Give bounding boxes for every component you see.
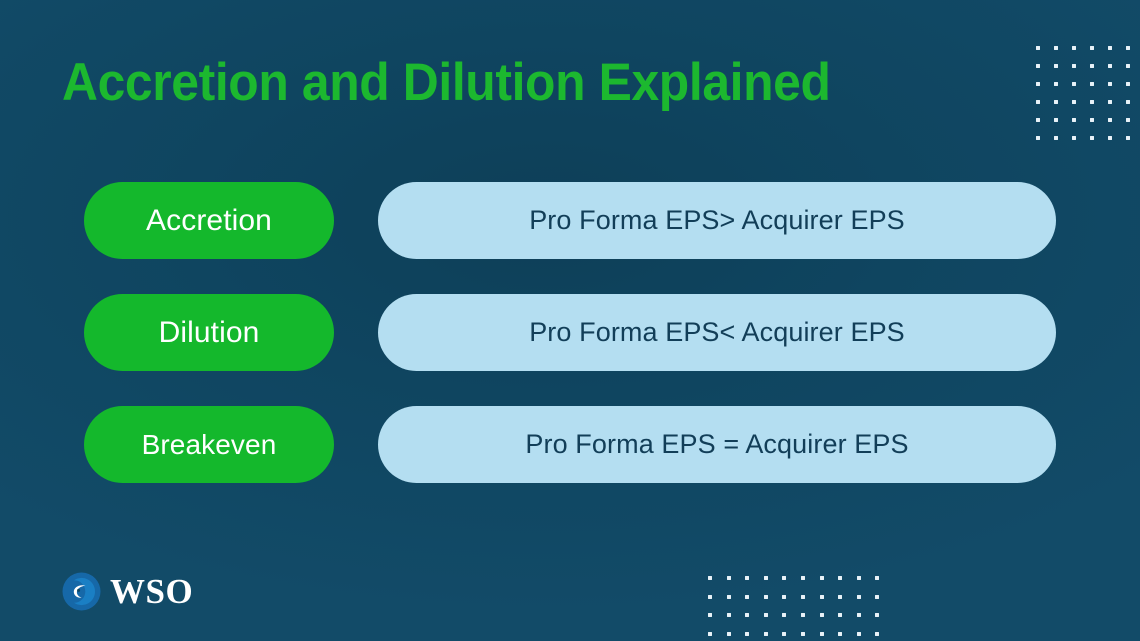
slide-canvas: Accretion and Dilution Explained Accreti… (0, 0, 1140, 641)
pill-value-breakeven: Pro Forma EPS = Acquirer EPS (378, 406, 1056, 483)
decorative-dot (745, 576, 749, 580)
decorative-dot (1126, 100, 1130, 104)
decorative-dot (1072, 118, 1076, 122)
decorative-dot (1054, 46, 1058, 50)
decorative-dot (1090, 64, 1094, 68)
decorative-dot (1036, 136, 1040, 140)
page-title: Accretion and Dilution Explained (62, 48, 831, 118)
decorative-dot (782, 632, 786, 636)
dot-grid-bottom (708, 576, 894, 641)
decorative-dot (1108, 100, 1112, 104)
decorative-dot (1036, 46, 1040, 50)
decorative-dot (857, 576, 861, 580)
decorative-dot (727, 576, 731, 580)
decorative-dot (1036, 64, 1040, 68)
decorative-dot (857, 632, 861, 636)
decorative-dot (1036, 100, 1040, 104)
comparison-list: Accretion Pro Forma EPS> Acquirer EPS Di… (84, 182, 1056, 483)
decorative-dot (1036, 82, 1040, 86)
decorative-dot (801, 576, 805, 580)
decorative-dot (875, 613, 879, 617)
decorative-dot (838, 576, 842, 580)
decorative-dot (764, 576, 768, 580)
decorative-dot (1072, 82, 1076, 86)
wso-swirl-icon (62, 572, 101, 611)
list-item: Dilution Pro Forma EPS< Acquirer EPS (84, 294, 1056, 371)
decorative-dot (1090, 136, 1094, 140)
brand-logo: WSO (62, 572, 193, 611)
decorative-dot (1054, 82, 1058, 86)
pill-value-dilution: Pro Forma EPS< Acquirer EPS (378, 294, 1056, 371)
decorative-dot (727, 632, 731, 636)
decorative-dot (708, 595, 712, 599)
pill-label-accretion: Accretion (84, 182, 334, 259)
decorative-dot (838, 632, 842, 636)
decorative-dot (875, 632, 879, 636)
decorative-dot (1054, 100, 1058, 104)
decorative-dot (1072, 46, 1076, 50)
decorative-dot (745, 595, 749, 599)
decorative-dot (875, 576, 879, 580)
decorative-dot (1054, 118, 1058, 122)
decorative-dot (764, 613, 768, 617)
decorative-dot (801, 632, 805, 636)
decorative-dot (1054, 64, 1058, 68)
decorative-dot (782, 576, 786, 580)
decorative-dot (708, 576, 712, 580)
decorative-dot (1126, 118, 1130, 122)
decorative-dot (820, 613, 824, 617)
decorative-dot (1090, 46, 1094, 50)
pill-value-accretion: Pro Forma EPS> Acquirer EPS (378, 182, 1056, 259)
decorative-dot (820, 632, 824, 636)
decorative-dot (801, 595, 805, 599)
decorative-dot (1036, 118, 1040, 122)
decorative-dot (1126, 82, 1130, 86)
decorative-dot (727, 595, 731, 599)
decorative-dot (1090, 100, 1094, 104)
decorative-dot (1090, 82, 1094, 86)
decorative-dot (727, 613, 731, 617)
decorative-dot (1108, 46, 1112, 50)
decorative-dot (1072, 64, 1076, 68)
decorative-dot (820, 576, 824, 580)
decorative-dot (1108, 136, 1112, 140)
dot-grid-top-right (1036, 46, 1140, 154)
decorative-dot (1108, 118, 1112, 122)
decorative-dot (782, 613, 786, 617)
list-item: Accretion Pro Forma EPS> Acquirer EPS (84, 182, 1056, 259)
decorative-dot (1108, 82, 1112, 86)
decorative-dot (801, 613, 805, 617)
decorative-dot (764, 632, 768, 636)
decorative-dot (857, 613, 861, 617)
pill-label-breakeven: Breakeven (84, 406, 334, 483)
pill-label-dilution: Dilution (84, 294, 334, 371)
decorative-dot (1126, 64, 1130, 68)
decorative-dot (745, 632, 749, 636)
decorative-dot (782, 595, 786, 599)
decorative-dot (838, 613, 842, 617)
decorative-dot (857, 595, 861, 599)
decorative-dot (708, 632, 712, 636)
decorative-dot (1054, 136, 1058, 140)
decorative-dot (875, 595, 879, 599)
list-item: Breakeven Pro Forma EPS = Acquirer EPS (84, 406, 1056, 483)
decorative-dot (1090, 118, 1094, 122)
decorative-dot (1072, 100, 1076, 104)
decorative-dot (838, 595, 842, 599)
decorative-dot (1126, 136, 1130, 140)
decorative-dot (1072, 136, 1076, 140)
brand-wordmark: WSO (110, 574, 193, 609)
decorative-dot (764, 595, 768, 599)
decorative-dot (708, 613, 712, 617)
decorative-dot (1108, 64, 1112, 68)
decorative-dot (745, 613, 749, 617)
decorative-dot (1126, 46, 1130, 50)
decorative-dot (820, 595, 824, 599)
